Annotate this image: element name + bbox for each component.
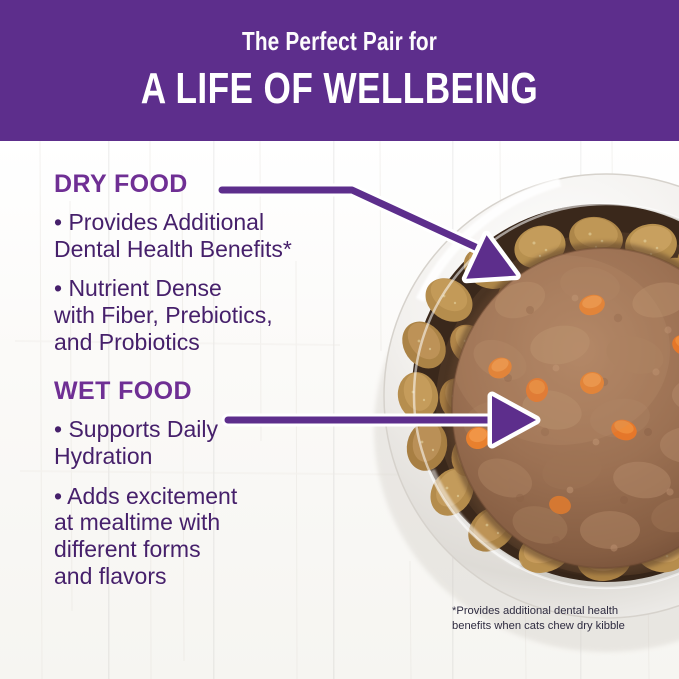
wet-bullet-2-line-3: different forms — [54, 536, 201, 562]
dry-food-bullet-1: • Provides Additional Dental Health Bene… — [54, 209, 384, 262]
wet-bullet-2-line-1: • Adds excitement — [54, 483, 237, 509]
dry-bullet-2-line-1: • Nutrient Dense — [54, 275, 222, 301]
footnote-line-1: *Provides additional dental health — [452, 604, 672, 619]
wet-bullet-1-line-1: • Supports Daily — [54, 416, 218, 442]
promo-graphic: The Perfect Pair for A LIFE OF WELLBEING… — [0, 0, 679, 679]
dry-food-heading: DRY FOOD — [54, 170, 384, 199]
wet-bullet-2-line-2: at mealtime with — [54, 509, 220, 535]
wet-bullet-1-line-2: Hydration — [54, 443, 152, 469]
footnote: *Provides additional dental health benef… — [452, 604, 672, 634]
header-band: The Perfect Pair for A LIFE OF WELLBEING — [0, 0, 679, 141]
header-subtitle: The Perfect Pair for — [68, 26, 611, 57]
header-title: A LIFE OF WELLBEING — [68, 64, 611, 114]
wet-food-bullet-2: • Adds excitement at mealtime with diffe… — [54, 483, 384, 590]
wet-bullet-2-line-4: and flavors — [54, 563, 167, 589]
benefits-column: DRY FOOD • Provides Additional Dental He… — [54, 170, 384, 602]
wet-food-heading: WET FOOD — [54, 377, 384, 406]
dry-bullet-2-line-3: and Probiotics — [54, 329, 200, 355]
wet-food-group: WET FOOD • Supports Daily Hydration • Ad… — [54, 377, 384, 589]
dry-bullet-1-line-1: • Provides Additional — [54, 209, 264, 235]
dry-food-bullet-2: • Nutrient Dense with Fiber, Prebiotics,… — [54, 275, 384, 355]
wet-food-bullet-1: • Supports Daily Hydration — [54, 416, 384, 469]
dry-bullet-2-line-2: with Fiber, Prebiotics, — [54, 302, 273, 328]
footnote-line-2: benefits when cats chew dry kibble — [452, 619, 672, 634]
dry-bullet-1-line-2: Dental Health Benefits* — [54, 236, 292, 262]
